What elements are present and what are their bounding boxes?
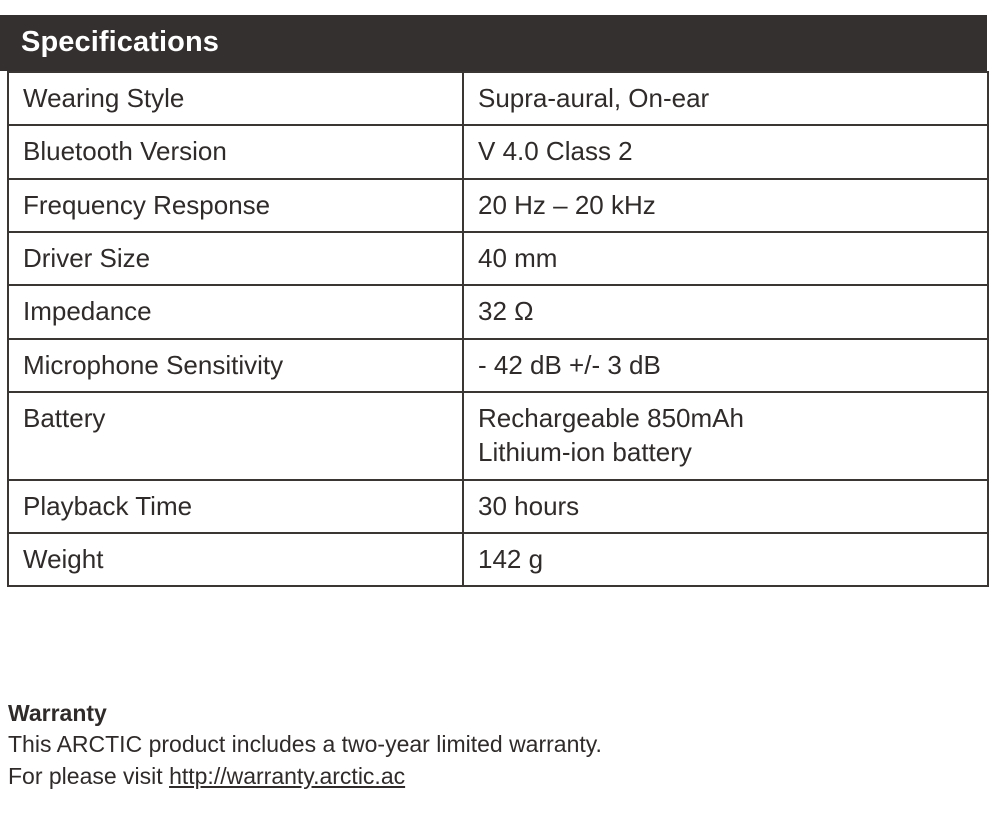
- spec-value-frequency-response: 20 Hz – 20 kHz: [463, 179, 988, 232]
- spec-label-frequency-response: Frequency Response: [8, 179, 463, 232]
- specifications-page: Specifications Wearing Style Supra-aural…: [0, 0, 995, 840]
- specifications-section: Specifications Wearing Style Supra-aural…: [7, 15, 987, 587]
- table-row: Playback Time 30 hours: [8, 480, 988, 533]
- spec-label-impedance: Impedance: [8, 285, 463, 338]
- table-row: Frequency Response 20 Hz – 20 kHz: [8, 179, 988, 232]
- specifications-header: Specifications: [0, 15, 987, 71]
- spec-value-bluetooth-version: V 4.0 Class 2: [463, 125, 988, 178]
- spec-label-playback-time: Playback Time: [8, 480, 463, 533]
- spec-value-weight: 142 g: [463, 533, 988, 586]
- spec-value-impedance: 32 Ω: [463, 285, 988, 338]
- spec-value-playback-time: 30 hours: [463, 480, 988, 533]
- spec-value-wearing-style: Supra-aural, On-ear: [463, 72, 988, 125]
- warranty-url-link[interactable]: http://warranty.arctic.ac: [169, 763, 405, 789]
- spec-value-microphone-sensitivity: - 42 dB +/- 3 dB: [463, 339, 988, 392]
- table-row: Wearing Style Supra-aural, On-ear: [8, 72, 988, 125]
- spec-value-battery: Rechargeable 850mAh Lithium-ion battery: [463, 392, 988, 480]
- warranty-text-line-2: For please visit http://warranty.arctic.…: [8, 761, 968, 793]
- table-row: Impedance 32 Ω: [8, 285, 988, 338]
- spec-value-battery-line2: Lithium-ion battery: [478, 435, 987, 469]
- spec-label-microphone-sensitivity: Microphone Sensitivity: [8, 339, 463, 392]
- warranty-heading: Warranty: [8, 700, 968, 727]
- warranty-section: Warranty This ARCTIC product includes a …: [8, 700, 968, 793]
- warranty-text-line-1: This ARCTIC product includes a two-year …: [8, 729, 968, 761]
- table-row: Microphone Sensitivity - 42 dB +/- 3 dB: [8, 339, 988, 392]
- warranty-visit-prefix: For please visit: [8, 763, 169, 789]
- spec-label-driver-size: Driver Size: [8, 232, 463, 285]
- spec-label-bluetooth-version: Bluetooth Version: [8, 125, 463, 178]
- spec-value-battery-line1: Rechargeable 850mAh: [478, 401, 987, 435]
- table-row: Battery Rechargeable 850mAh Lithium-ion …: [8, 392, 988, 480]
- specifications-table: Wearing Style Supra-aural, On-ear Blueto…: [7, 71, 989, 587]
- table-row: Driver Size 40 mm: [8, 232, 988, 285]
- table-row: Bluetooth Version V 4.0 Class 2: [8, 125, 988, 178]
- spec-value-driver-size: 40 mm: [463, 232, 988, 285]
- table-row: Weight 142 g: [8, 533, 988, 586]
- spec-label-wearing-style: Wearing Style: [8, 72, 463, 125]
- spec-label-weight: Weight: [8, 533, 463, 586]
- spec-label-battery: Battery: [8, 392, 463, 480]
